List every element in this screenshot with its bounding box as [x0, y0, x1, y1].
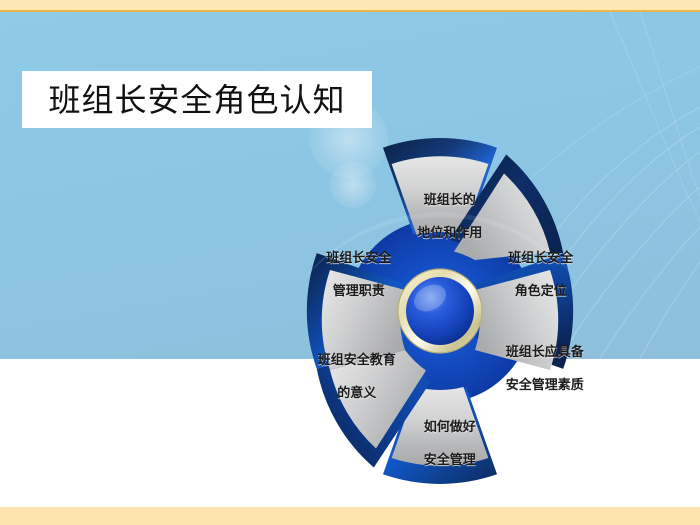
- page-title: 班组长安全角色认知: [48, 84, 345, 116]
- slide-canvas: 班组长安全角色认知: [0, 0, 700, 525]
- top-accent-rule: [0, 10, 700, 12]
- top-accent-band: [0, 0, 700, 10]
- segmented-wheel-diagram: 班组长的 地位和作用 班组长安全 角色定位 班组长应具备 安全管理素质 如何做好…: [267, 138, 613, 484]
- center-hub[interactable]: [398, 269, 482, 353]
- title-box: 班组长安全角色认知: [22, 71, 372, 128]
- bottom-accent-band: [0, 507, 700, 525]
